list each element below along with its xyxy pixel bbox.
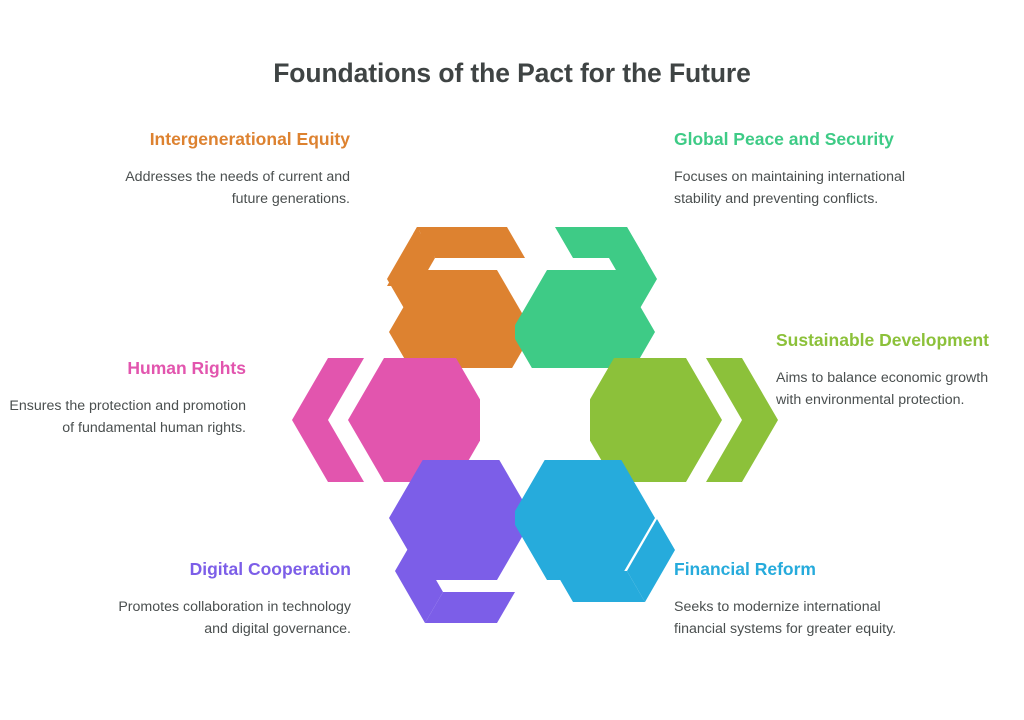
item-heading: Human Rights [0,355,246,382]
item-heading: Intergenerational Equity [100,126,350,153]
item-heading: Sustainable Development [776,327,1014,354]
item-human-rights: Human Rights Ensures the protection and … [0,355,246,440]
item-sustainable-development: Sustainable Development Aims to balance … [776,327,1014,412]
item-description: Ensures the protection and promotion of … [0,396,246,440]
item-description: Aims to balance economic growth with env… [776,368,1014,412]
infographic-canvas: Foundations of the Pact for the Future I… [0,0,1024,720]
page-title: Foundations of the Pact for the Future [0,58,1024,89]
hexagon-cluster [270,188,760,632]
hexagon-blue-icon [515,460,715,640]
item-heading: Global Peace and Security [674,126,924,153]
